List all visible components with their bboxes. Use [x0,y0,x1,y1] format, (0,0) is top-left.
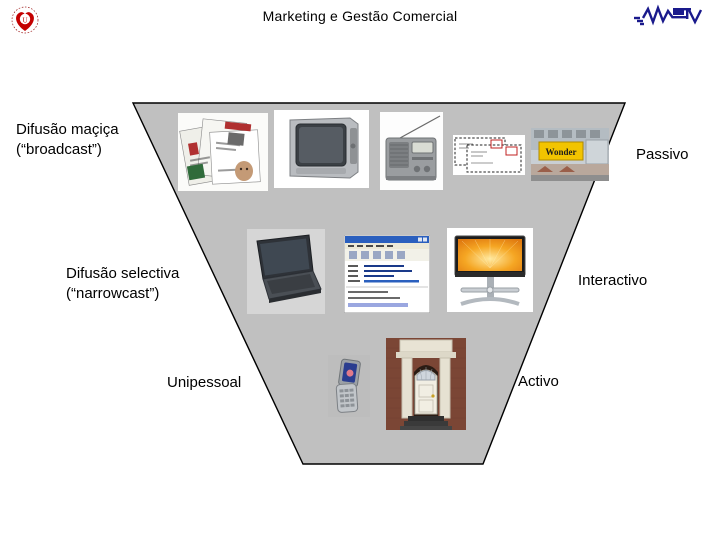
laptop-computer-image [247,229,325,314]
department-logo: Dep. Eng. Electrotécnica [632,4,716,44]
flip-mobile-phone-image [328,355,370,417]
funnel-label-broadcast-line2: (“broadcast”) [16,140,119,160]
email-client-window-image [344,235,430,313]
slide-header: U Marketing e Gestão Comercial Dep. Eng.… [0,0,720,52]
crt-television-image [274,110,369,188]
flatscreen-television-image [447,228,533,312]
page-title: Marketing e Gestão Comercial [0,8,720,24]
billboard-image: Wonder [531,128,609,181]
direct-mail-envelopes-image [453,135,525,175]
portable-radio-image [380,112,443,190]
newspapers-image [178,113,268,191]
funnel-label-broadcast-line1: Difusão maçiça [16,120,119,140]
funnel-label-narrowcast-line1: Difusão selectiva [66,264,179,284]
funnel-label-passivo: Passivo [636,145,689,165]
billboard-caption: Wonder [545,147,576,157]
funnel-label-interactivo: Interactivo [578,271,647,291]
funnel-label-broadcast: Difusão maçiça (“broadcast”) [16,120,119,161]
funnel-label-narrowcast-line2: (“narrowcast”) [66,284,179,304]
front-door-image [386,338,466,430]
funnel-label-narrowcast: Difusão selectiva (“narrowcast”) [66,264,179,305]
funnel-label-activo: Activo [518,372,559,392]
funnel-label-unipessoal: Unipessoal [167,373,241,393]
